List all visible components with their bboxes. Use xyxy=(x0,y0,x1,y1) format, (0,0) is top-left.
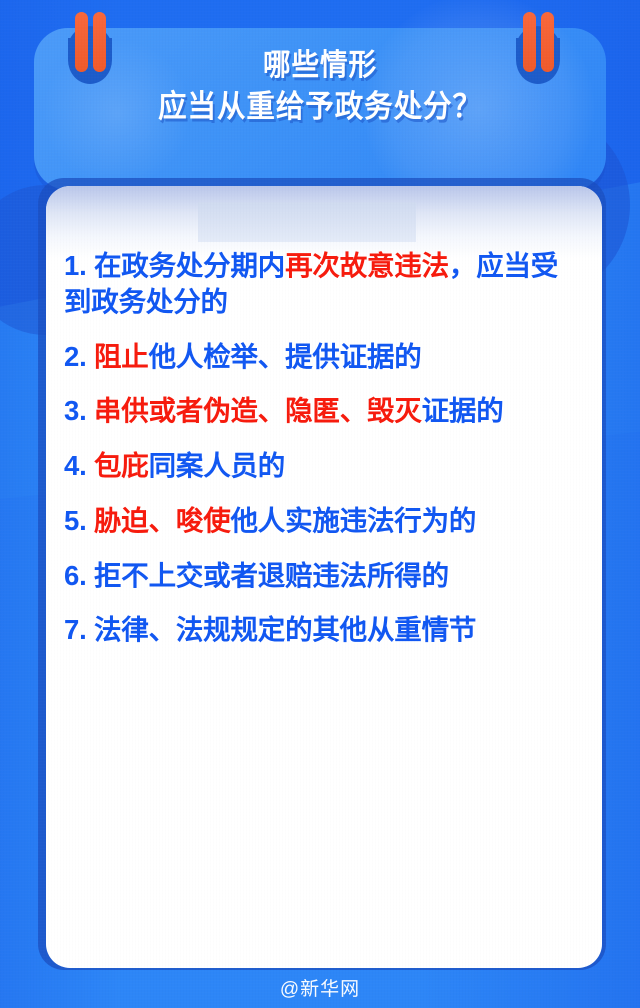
clip-bar-left-1 xyxy=(75,12,88,72)
clip-bar-right-2 xyxy=(541,12,554,72)
list-item: 6. 拒不上交或者退赔违法所得的 xyxy=(64,558,584,594)
card-top-accent-block xyxy=(198,202,416,242)
list-item-number: 2. xyxy=(64,341,87,372)
list-item: 4. 包庇同案人员的 xyxy=(64,448,584,484)
list-item: 7. 法律、法规规定的其他从重情节 xyxy=(64,612,584,648)
list-item-text: 法律、法规规定的其他从重情节 xyxy=(87,614,477,645)
list-item-highlight-text: 阻止 xyxy=(94,341,149,372)
list-item-number: 3. xyxy=(64,395,87,426)
clip-bar-right-1 xyxy=(523,12,536,72)
list-item-highlight-text: 胁迫、唆使 xyxy=(94,505,231,536)
list-item-highlight-text: 再次故意违法 xyxy=(285,250,449,281)
list-item-number: 5. xyxy=(64,505,87,536)
list-item-highlight-text: 包庇 xyxy=(94,450,149,481)
list-item-text: 同案人员的 xyxy=(149,450,286,481)
list-item-text xyxy=(87,450,94,481)
binder-clip-left-icon xyxy=(62,12,118,78)
list-item-number: 7. xyxy=(64,614,87,645)
list-item-text xyxy=(87,341,94,372)
list-item-text: 在政务处分期内 xyxy=(87,250,286,281)
list-item-text xyxy=(87,505,94,536)
list-item-number: 4. xyxy=(64,450,87,481)
list-item-text xyxy=(87,395,94,426)
clip-bar-left-2 xyxy=(93,12,106,72)
list-item-number: 6. xyxy=(64,560,87,591)
list-item: 3. 串供或者伪造、隐匿、毁灭证据的 xyxy=(64,393,584,429)
poster-root: 哪些情形 应当从重给予政务处分？ 1. 在政务处分期内再次故意违法，应当受到政务… xyxy=(0,0,640,1008)
content-card: 1. 在政务处分期内再次故意违法，应当受到政务处分的2. 阻止他人检举、提供证据… xyxy=(46,186,602,968)
list-item-text: 他人实施违法行为的 xyxy=(231,505,477,536)
list-item-number: 1. xyxy=(64,250,87,281)
list-item-text: 证据的 xyxy=(422,395,504,426)
list-item-text: 他人检举、提供证据的 xyxy=(149,341,422,372)
binder-clip-right-icon xyxy=(510,12,566,78)
list-item-text: 拒不上交或者退赔违法所得的 xyxy=(87,560,449,591)
list-item: 1. 在政务处分期内再次故意违法，应当受到政务处分的 xyxy=(64,248,584,320)
list-item: 2. 阻止他人检举、提供证据的 xyxy=(64,339,584,375)
footer-watermark: @新华网 xyxy=(0,974,640,1001)
title-line-1: 哪些情形 xyxy=(57,50,583,82)
title-line-2: 应当从重给予政务处分？ xyxy=(57,90,583,123)
list-item-highlight-text: 串供或者伪造、隐匿、毁灭 xyxy=(94,395,422,426)
list-item: 5. 胁迫、唆使他人实施违法行为的 xyxy=(64,503,584,539)
conditions-list: 1. 在政务处分期内再次故意违法，应当受到政务处分的2. 阻止他人检举、提供证据… xyxy=(64,248,584,648)
